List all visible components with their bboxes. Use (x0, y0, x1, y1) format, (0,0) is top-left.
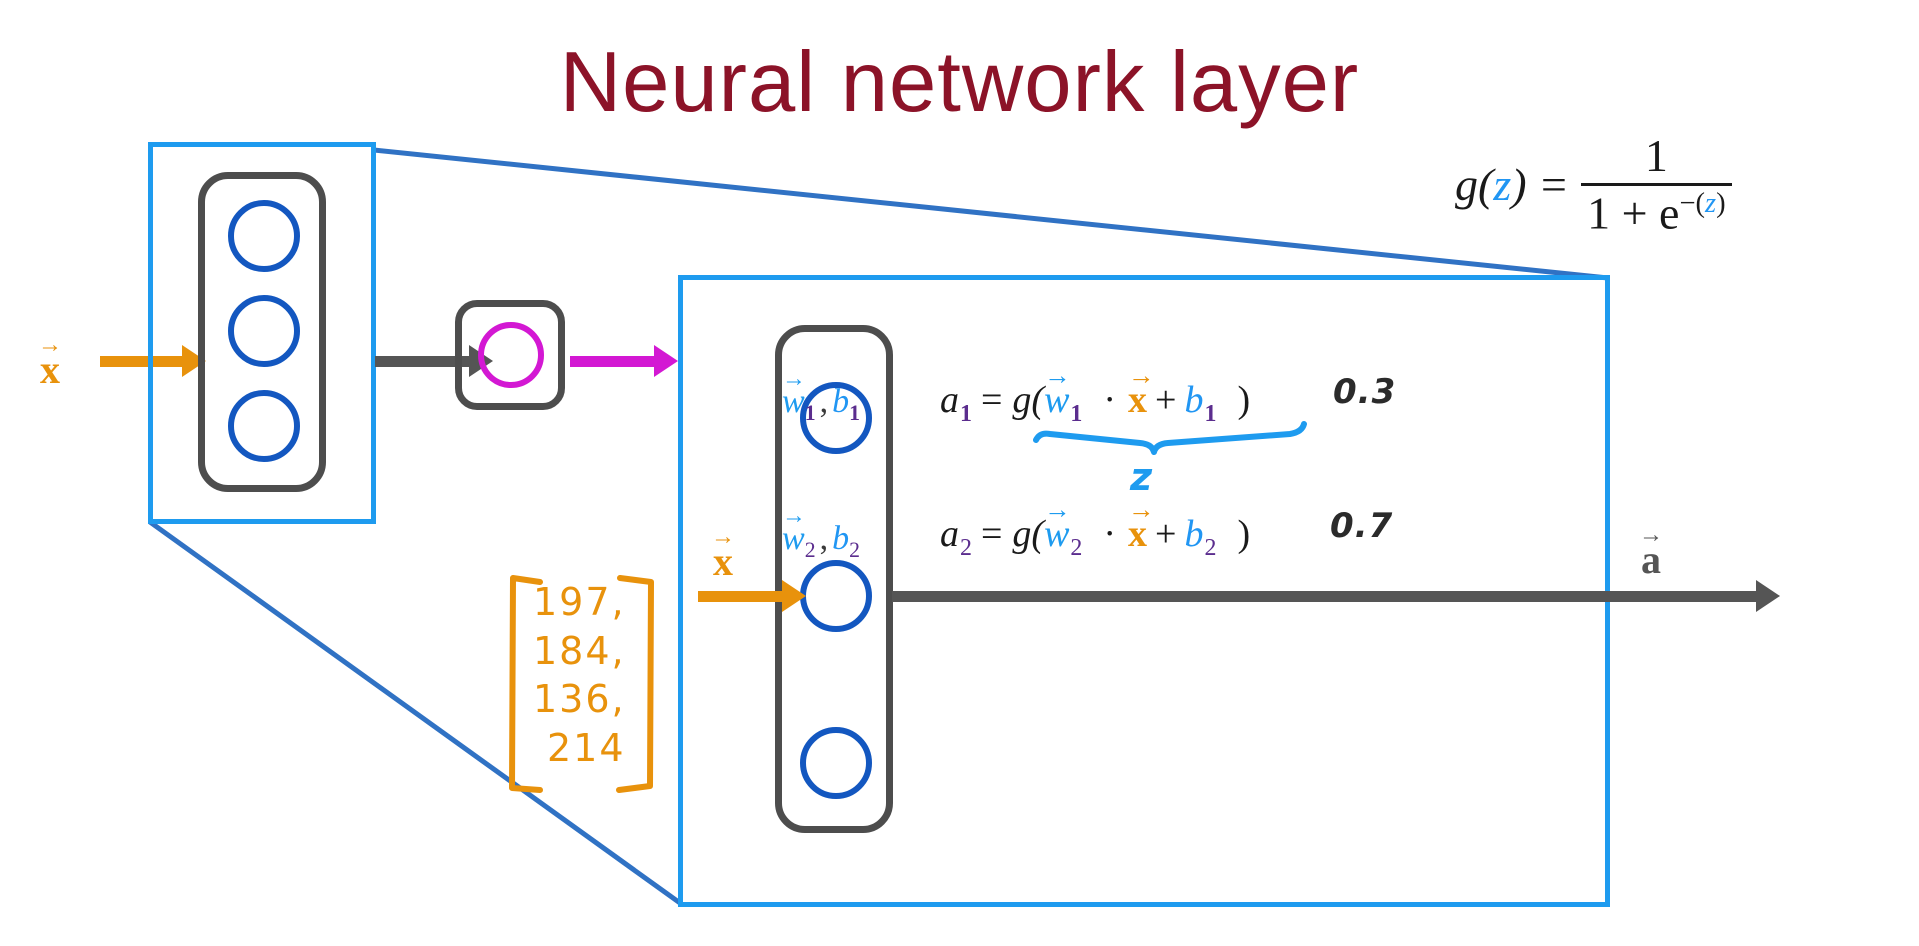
sigmoid-arg: z (1493, 158, 1511, 211)
eq2-b: b (1184, 512, 1203, 556)
b-var-1: b (832, 383, 849, 421)
eq1-x-vector: →x (1128, 378, 1147, 422)
eq2-w-sub: 2 (1070, 535, 1082, 562)
input-label-text: x (713, 539, 733, 584)
eq2-dot: · (1081, 512, 1128, 556)
w-subscript-2: 2 (805, 538, 816, 563)
eq1-equals: = (971, 378, 1012, 422)
vector-arrow-icon: → (782, 505, 805, 529)
vector-arrow-icon: → (782, 368, 805, 392)
output-activation-label: → a (1628, 528, 1674, 580)
eq1-b-sub: 1 (1204, 401, 1216, 428)
eq1-dot: · (1081, 378, 1128, 422)
comma-2: , (816, 520, 833, 558)
eq1-lhs: a (940, 378, 959, 422)
eq1-w-vector: →w (1044, 378, 1069, 422)
vector-arrow-icon: → (1044, 362, 1069, 389)
output-arrow (570, 345, 678, 377)
vector-value-0: 197, (533, 578, 653, 627)
neuron-circle-2-small (228, 295, 300, 367)
sigmoid-formula: g(z) = 1 1 + e−(z) (1455, 132, 1732, 238)
arrow-shaft (698, 591, 782, 602)
arrow-shaft (570, 356, 654, 367)
eq2-lhs-sub: 2 (960, 535, 972, 562)
activation-output-arrow (892, 580, 1780, 612)
eq2-close: ) (1215, 512, 1250, 556)
sigmoid-numerator: 1 (1621, 132, 1692, 183)
arrow-head-icon (1756, 580, 1780, 612)
b-var-2: b (832, 520, 849, 558)
neuron-circle-3-small (228, 390, 300, 462)
zoom-line-top (374, 150, 1608, 278)
vector-arrow-icon: → (1128, 496, 1147, 523)
slide-canvas: Neural network layer g(z) = 1 1 + e−(z) … (0, 0, 1919, 946)
sigmoid-denominator: 1 + e−(z) (1581, 186, 1732, 238)
z-brace-label: z (1130, 455, 1152, 499)
input-vector-values: 197, 184, 136, 214 (533, 578, 653, 773)
eq2-g: g( (1012, 512, 1044, 556)
vector-arrow-icon: → (1128, 362, 1147, 389)
vector-value-2: 136, (533, 675, 653, 724)
sigmoid-fraction: 1 1 + e−(z) (1581, 132, 1732, 238)
eq1-b: b (1184, 378, 1203, 422)
exp-open: −( (1679, 188, 1705, 219)
eq2-equals: = (971, 512, 1012, 556)
output-label-text: a (1641, 537, 1661, 582)
activation-equation-2: a2 = g(→w2 · →x + b2 ) (940, 512, 1250, 556)
sigmoid-lhs-close: ) = (1511, 158, 1569, 211)
arrow-head-icon (782, 580, 806, 612)
eq1-g: g( (1012, 378, 1044, 422)
output-neuron-circle (478, 322, 544, 388)
eq1-close: ) (1215, 378, 1250, 422)
b-subscript-2: 2 (849, 538, 860, 563)
vector-arrow-icon: → (1044, 496, 1069, 523)
activation-value-2: 0.7 (1330, 506, 1393, 546)
arrow-shaft (892, 591, 1756, 602)
exp-close: ) (1716, 188, 1726, 219)
neuron-circle-1-small (228, 200, 300, 272)
activation-value-1: 0.3 (1333, 372, 1396, 412)
node-params-label-2: →w2,b2 (782, 520, 860, 558)
exp-arg: z (1705, 188, 1716, 219)
w-subscript-1: 1 (805, 401, 816, 426)
eq2-lhs: a (940, 512, 959, 556)
node-params-label-1: →w1,b1 (782, 383, 860, 421)
eq2-b-sub: 2 (1204, 535, 1216, 562)
input-vector-label-zoom: → x (700, 530, 746, 582)
input-vector-label-left: → x (27, 338, 73, 390)
sigmoid-lhs: g( (1455, 158, 1493, 211)
denom-prefix: 1 + e (1587, 187, 1679, 238)
eq2-x-vector: →x (1128, 512, 1147, 556)
page-title: Neural network layer (0, 34, 1919, 132)
arrow-head-icon (654, 345, 678, 377)
input-label-text: x (40, 347, 60, 392)
eq1-lhs-sub: 1 (960, 401, 972, 428)
eq2-w-vector: →w (1044, 512, 1069, 556)
activation-equation-1: a1 = g(→w1 · →x + b1 ) (940, 378, 1250, 422)
neuron-circle-3-zoom (800, 727, 872, 799)
vector-value-3: 214 (533, 724, 653, 773)
b-subscript-1: 1 (849, 401, 860, 426)
denom-exponent: −(z) (1679, 188, 1725, 219)
comma-1: , (816, 383, 833, 421)
w-vector-2: →w (782, 520, 805, 558)
neuron-circle-2-zoom (800, 560, 872, 632)
w-vector-1: →w (782, 383, 805, 421)
input-arrow-zoom (698, 580, 806, 612)
vector-value-1: 184, (533, 627, 653, 676)
eq1-w-sub: 1 (1070, 401, 1082, 428)
